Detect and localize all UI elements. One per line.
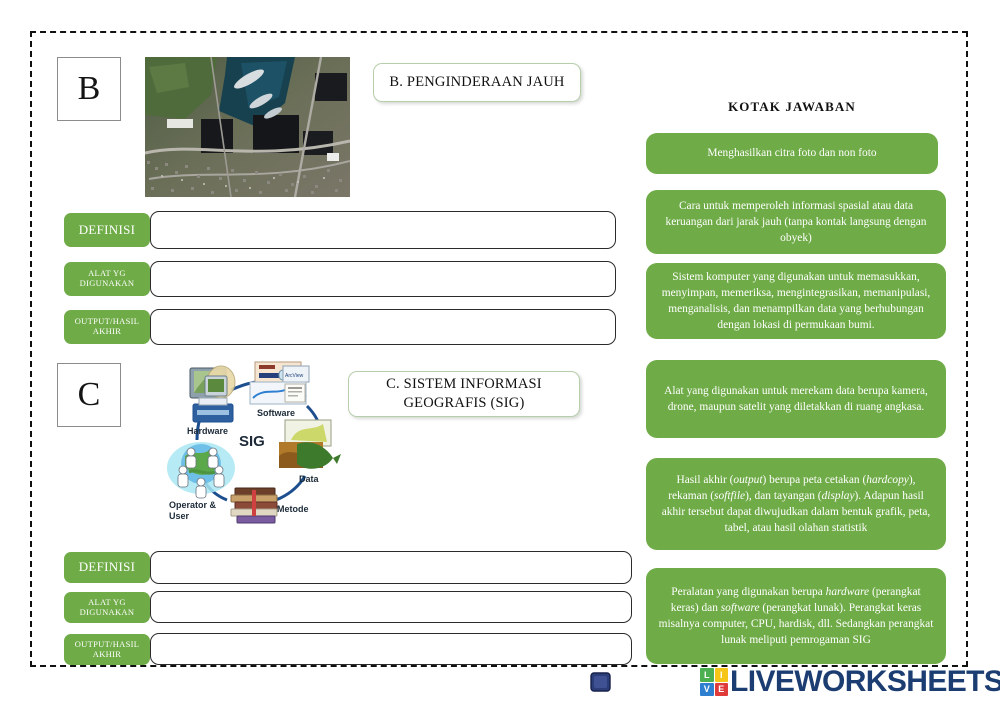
mouse-cursor: [588, 669, 614, 695]
section-badge-b: B: [57, 57, 121, 121]
field-label-alat-b: ALAT YG DIGUNAKAN: [64, 262, 150, 296]
sig-node-label-operator: Operator &: [169, 500, 217, 510]
answer-chip-4[interactable]: Alat yang digunakan untuk merekam data b…: [646, 360, 946, 438]
answer-chip-1[interactable]: Menghasilkan citra foto dan non foto: [646, 133, 938, 174]
answer-chip-6[interactable]: Peralatan yang digunakan berupa hardware…: [646, 568, 946, 664]
field-label-definisi-c: DEFINISI: [64, 552, 150, 583]
liveworksheets-logo-word: LIVEWORKSHEETS: [730, 667, 1000, 697]
logo-tile-i: I: [715, 668, 729, 682]
answer-input-alat-b[interactable]: [150, 261, 616, 297]
svg-text:ArcView: ArcView: [285, 373, 304, 379]
sig-components-diagram: Hardware ArcView Software: [157, 360, 362, 540]
section-badge-b-letter: B: [78, 70, 101, 108]
section-title-c-text: C. SISTEM INFORMASI GEOGRAFIS (SIG): [349, 375, 579, 413]
satellite-aerial-photo: [145, 57, 350, 197]
answer-input-definisi-b[interactable]: [150, 211, 616, 249]
logo-tile-l: L: [700, 668, 714, 682]
answer-chip-5[interactable]: Hasil akhir (output) berupa peta cetakan…: [646, 458, 946, 550]
field-label-output-b: OUTPUT/HASIL AKHIR: [64, 310, 150, 344]
sig-center-label: SIG: [239, 433, 265, 450]
svg-text:User: User: [169, 511, 190, 521]
sig-node-label-data: Data: [299, 474, 320, 484]
field-label-definisi-b: DEFINISI: [64, 213, 150, 247]
answer-panel-heading: KOTAK JAWABAN: [632, 99, 952, 115]
section-badge-c: C: [57, 363, 121, 427]
section-title-c: C. SISTEM INFORMASI GEOGRAFIS (SIG): [348, 371, 580, 417]
section-badge-c-letter: C: [78, 376, 101, 414]
answer-input-definisi-c[interactable]: [150, 551, 632, 584]
answer-chip-3[interactable]: Sistem komputer yang digunakan untuk mem…: [646, 263, 946, 339]
section-title-b-text: B. PENGINDERAAN JAUH: [389, 73, 564, 92]
sig-node-label-software: Software: [257, 408, 295, 418]
field-label-output-c: OUTPUT/HASIL AKHIR: [64, 634, 150, 665]
sig-node-label-metode: Metode: [277, 504, 309, 514]
answer-input-output-b[interactable]: [150, 309, 616, 345]
answer-chip-2[interactable]: Cara untuk memperoleh informasi spasial …: [646, 190, 946, 254]
logo-tile-v: V: [700, 683, 714, 697]
answer-input-output-c[interactable]: [150, 633, 632, 665]
logo-tile-e: E: [715, 683, 729, 697]
answer-input-alat-c[interactable]: [150, 591, 632, 623]
section-title-b: B. PENGINDERAAN JAUH: [373, 63, 581, 102]
field-label-alat-c: ALAT YG DIGUNAKAN: [64, 592, 150, 623]
worksheet-frame: B: [30, 31, 968, 667]
liveworksheets-logo-tiles: L I V E: [700, 668, 728, 696]
liveworksheets-logo: L I V E LIVEWORKSHEETS: [700, 667, 1000, 697]
sig-node-label-hardware: Hardware: [187, 426, 228, 436]
